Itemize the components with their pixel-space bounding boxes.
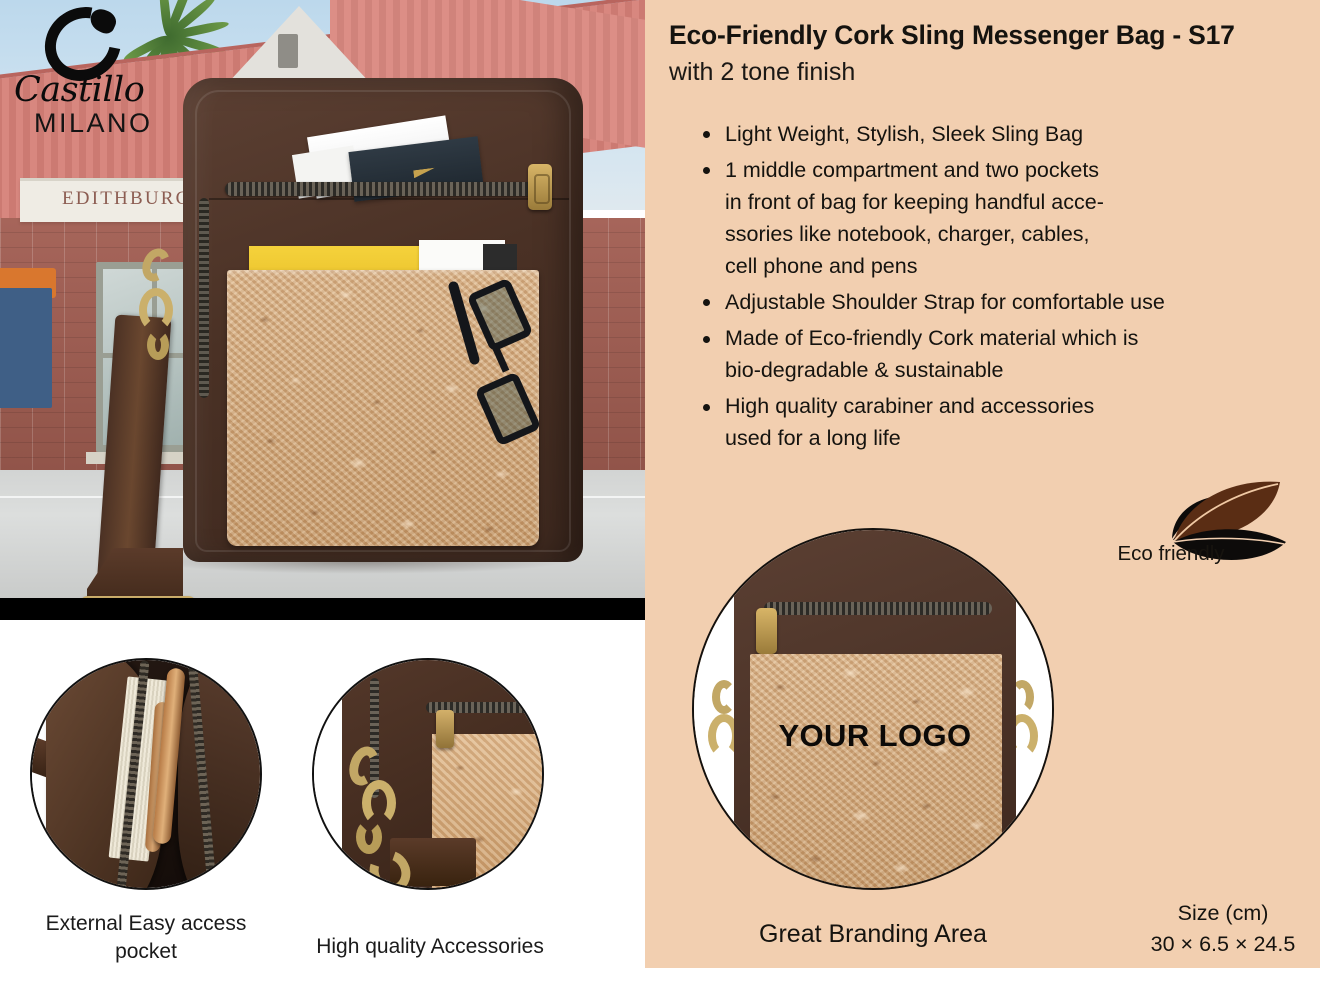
page-subtitle: with 2 tone finish [669,58,1299,87]
feature-line: cell phone and pens [725,250,1307,282]
left-panel: EDITHBURCH PO cks [0,0,645,990]
detail-caption-two: High quality Accessories [300,933,560,961]
feature-line: ssories like notebook, charger, cables, [725,218,1307,250]
detail-insets: External Easy access pocket High quality… [0,620,645,990]
feature-line: in front of bag for keeping handful acce… [725,186,1307,218]
messenger-bag [183,78,583,562]
bottom-white-strip [645,968,1320,990]
feature-line: bio-degradable & sustainable [725,354,1307,386]
list-item: High quality carabiner and accessories u… [697,390,1307,454]
size-label: Size (cm) [1128,898,1318,929]
caption-line: High quality [316,935,426,958]
detail-photo-easy-access-pocket [30,658,262,890]
bag-side-zipper [199,198,209,398]
logo-script-text: Castillo [14,70,164,110]
detail-caption-one: External Easy access pocket [16,910,276,967]
caption-line: External Easy access [46,912,247,935]
feature-list: Light Weight, Stylish, Sleek Sling Bag 1… [697,118,1307,458]
branding-area-photo: YOUR LOGO [692,528,1054,890]
feature-line: Made of Eco-friendly Cork material which… [725,322,1307,354]
list-item: Adjustable Shoulder Strap for comfortabl… [697,286,1307,318]
eco-friendly-badge: Eco friendly [1110,470,1310,582]
list-item: Light Weight, Stylish, Sleek Sling Bag [697,118,1307,150]
roof-vent [278,34,298,68]
cork-branding-surface [750,654,1002,890]
feature-line: used for a long life [725,422,1307,454]
product-sheet: EDITHBURCH PO cks [0,0,1320,990]
feature-line: 1 middle compartment and two pockets [725,154,1307,186]
bullet-icon [703,336,710,343]
bullet-icon [703,299,710,306]
caption-line: Accessories [431,935,544,958]
detail-photo-accessories [312,658,544,890]
size-value: 30 × 6.5 × 24.5 [1128,929,1318,960]
zipper-pull-icon [528,164,552,210]
carabiner-icon [137,246,183,366]
zipper-pull-icon [436,710,454,748]
bag-flap-line [209,198,569,200]
caption-line: pocket [115,940,177,963]
page-title: Eco-Friendly Cork Sling Messenger Bag - … [669,20,1299,51]
feature-line: Light Weight, Stylish, Sleek Sling Bag [725,118,1307,150]
section-divider [0,598,645,620]
list-item: 1 middle compartment and two pockets in … [697,154,1307,282]
eco-friendly-label: Eco friendly [1106,542,1236,566]
bullet-icon [703,404,710,411]
bag-top-zipper [225,182,541,196]
eyeglasses [455,274,567,464]
bullet-icon [703,167,710,174]
logo-wordmark-text: MILANO [34,108,184,139]
logo-placeholder-text: YOUR LOGO [694,718,1054,754]
street-sign-board [0,288,52,408]
brand-logo: Castillo MILANO [14,4,164,152]
zipper-pull-icon [756,608,777,654]
branding-area-caption: Great Branding Area [642,920,1104,949]
list-item: Made of Eco-friendly Cork material which… [697,322,1307,386]
feature-line: Adjustable Shoulder Strap for comfortabl… [725,286,1307,318]
size-info: Size (cm) 30 × 6.5 × 24.5 [1128,898,1318,959]
glasses-lens-right [474,371,541,446]
feature-line: High quality carabiner and accessories [725,390,1307,422]
bag-top-zipper [764,602,992,615]
bullet-icon [703,131,710,138]
glasses-lens-left [466,277,533,352]
